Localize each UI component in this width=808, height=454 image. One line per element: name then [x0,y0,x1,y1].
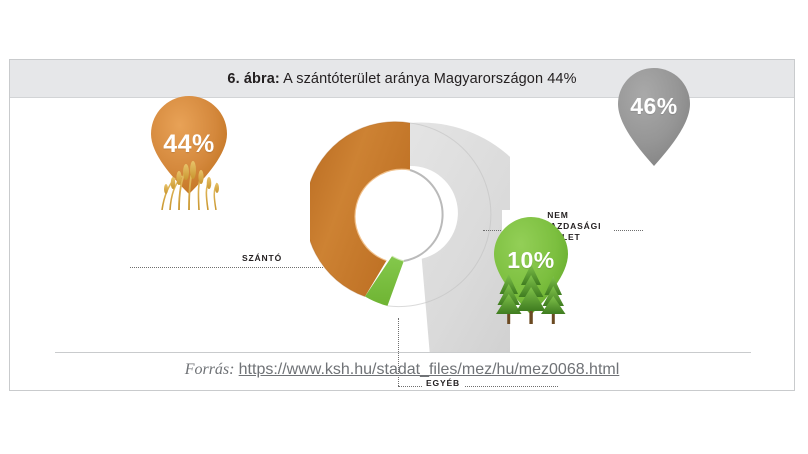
leader-line-szanto [130,267,323,268]
chart-body: SZÁNTÓ NEM MEZŐGAZDASÁGI TERÜLET EGYÉB [10,98,794,352]
marker-pin-szanto: 44% [148,92,230,210]
marker-value-egyeb: 10% [491,247,571,274]
donut-chart [310,98,510,352]
source-label: Forrás: [185,361,235,378]
marker-pin-nem-mezogazdasagi: 46% [616,66,692,174]
figure-footer: Forrás: https://www.ksh.hu/stadat_files/… [10,352,794,390]
figure-caption: 6. ábra: A szántóterület aránya Magyaror… [227,71,576,87]
source-line: Forrás: https://www.ksh.hu/stadat_files/… [10,361,794,379]
figure-caption-text: A szántóterület aránya Magyarországon 44… [280,71,577,87]
pin-nem-graphic [616,66,692,174]
figure-card: 6. ábra: A szántóterület aránya Magyaror… [9,59,795,391]
source-url-link[interactable]: https://www.ksh.hu/stadat_files/mez/hu/m… [239,361,620,378]
marker-pin-egyeb: 10% [491,214,571,326]
figure-caption-lead: 6. ábra: [227,71,279,87]
footer-divider [55,352,751,353]
marker-value-szanto: 44% [148,130,230,159]
category-label-szanto: SZÁNTÓ [238,253,286,264]
marker-value-nem-mezogazdasagi: 46% [616,93,692,120]
